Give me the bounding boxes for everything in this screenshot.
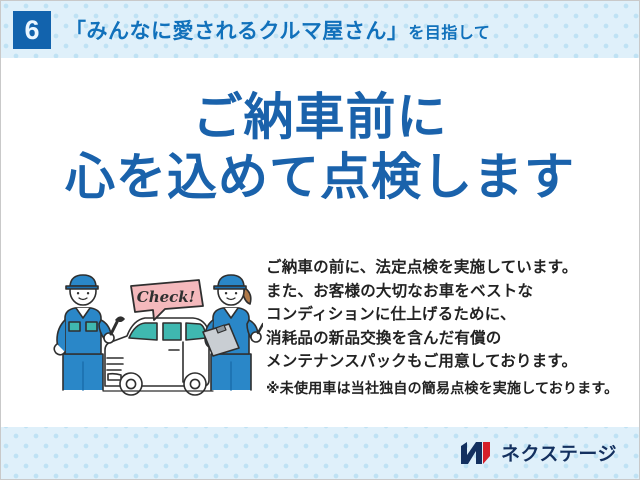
nextage-n-mark-icon xyxy=(460,441,494,465)
brand-logo: ネクステージ xyxy=(460,439,617,466)
body-line: 消耗品の新品交換を含んだ有償の xyxy=(266,327,626,351)
promo-banner: 6 「みんなに愛されるクルマ屋さん」を目指して ご納車前に 心を込めて点検します… xyxy=(0,0,640,480)
header-title-suffix: を目指して xyxy=(408,25,490,42)
body-footnote: ※未使用車は当社独自の簡易点検を実施しております。 xyxy=(266,377,626,401)
brand-name: ネクステージ xyxy=(501,439,617,466)
body-line: また、お客様の大切なお車をベストな xyxy=(266,280,626,304)
mechanics-illustration: Check! xyxy=(53,258,263,398)
header: 6 「みんなに愛されるクルマ屋さん」を目指して xyxy=(1,1,640,58)
section-number-badge: 6 xyxy=(13,11,51,49)
content-panel: ご納車前に 心を込めて点検します ご納車の前に、法定点検を実施しています。 また… xyxy=(1,58,639,427)
body-line: ご納車の前に、法定点検を実施しています。 xyxy=(266,256,626,280)
mechanic-right xyxy=(203,275,263,390)
body-line: コンディションに仕上げるために、 xyxy=(266,303,626,327)
speech-bubble-label: Check! xyxy=(137,288,196,306)
headline-line-2: 心を込めて点検します xyxy=(1,150,639,204)
page-title: ご納車前に 心を込めて点検します xyxy=(1,90,639,204)
header-title: 「みんなに愛されるクルマ屋さん」を目指して xyxy=(65,15,490,45)
footer: ネクステージ xyxy=(1,426,639,479)
body-line: メンテナンスパックもご用意しております。 xyxy=(266,350,626,374)
body-copy: ご納車の前に、法定点検を実施しています。 また、お客様の大切なお車をベストな コ… xyxy=(266,256,626,400)
header-title-quoted: 「みんなに愛されるクルマ屋さん」 xyxy=(65,20,408,43)
van-illustration xyxy=(103,318,213,395)
headline-line-1: ご納車前に xyxy=(1,90,639,144)
